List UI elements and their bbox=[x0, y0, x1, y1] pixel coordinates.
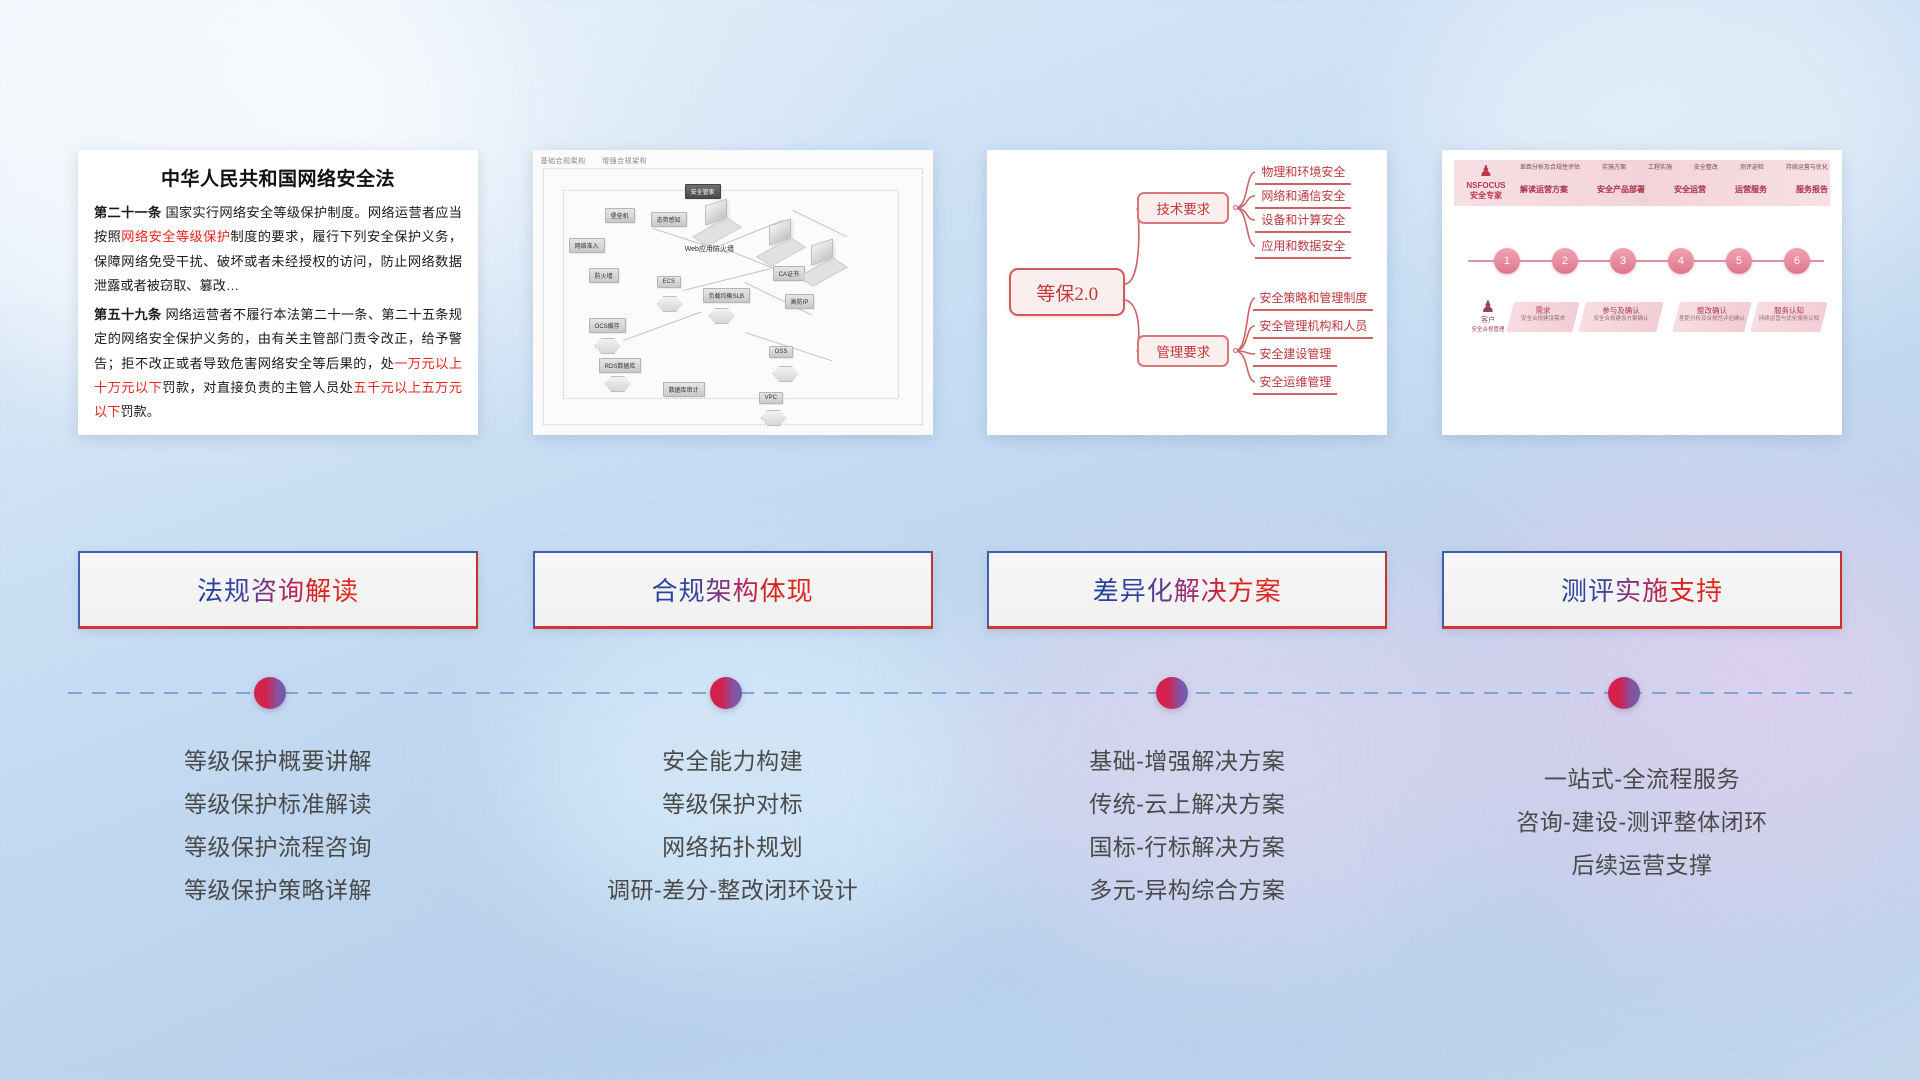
illustration-card-row: 中华人民共和国网络安全法 第二十一条 国家实行网络安全等级保护制度。网络运营者应… bbox=[78, 150, 1842, 440]
roadmap-capability: 服务报告 bbox=[1796, 184, 1828, 195]
roadmap-capability: 安全运营 bbox=[1674, 184, 1706, 195]
timeline-dot-1[interactable] bbox=[254, 677, 286, 709]
mindmap-leaf: 应用和数据安全 bbox=[1255, 236, 1351, 259]
article-21-highlight: 网络安全等级保护 bbox=[121, 229, 230, 244]
roadmap-micro: 安全整改 bbox=[1694, 162, 1718, 171]
architecture-node: 堡垒机 bbox=[605, 208, 635, 223]
phase-button-row: 法规咨询解读 合规架构体现 差异化解决方案 测评实施支持 bbox=[78, 551, 1842, 629]
architecture-node: 防火墙 bbox=[589, 268, 619, 283]
roadmap-capability: 解读运营方案 bbox=[1520, 184, 1568, 195]
detail-list-assessment-support: 一站式-全流程服务 咨询-建设-测评整体闭环 后续运营支撑 bbox=[1442, 740, 1842, 912]
architecture-node: OSS bbox=[769, 346, 794, 358]
roadmap-tag-sub: 持续运营与优化服务认知 bbox=[1756, 316, 1822, 323]
architecture-node: 网络准入 bbox=[569, 238, 605, 253]
phase-button-label: 法规咨询解读 bbox=[197, 571, 359, 608]
mindmap-branch-management: 管理要求 bbox=[1137, 335, 1229, 367]
roadmap-capability: 安全产品部署 bbox=[1597, 184, 1645, 195]
roadmap-tag-sub: 安全合规建设需求 bbox=[1512, 316, 1574, 323]
phase-button-differentiated-solution[interactable]: 差异化解决方案 bbox=[987, 551, 1387, 629]
phase-button-assessment-support[interactable]: 测评实施支持 bbox=[1442, 551, 1842, 629]
roadmap-tag-label: 服务认知 bbox=[1774, 306, 1804, 315]
card-nsfocus-roadmap: ♟ NSFOCUS 安全专家 差距分析及合规性评估 实施方案 工程实施 安全整改… bbox=[1442, 150, 1842, 435]
roadmap-step-dot: 6 bbox=[1784, 248, 1810, 274]
architecture-node: ECS bbox=[657, 276, 681, 288]
architecture-header: 基础合规架构 增强合规架构 bbox=[541, 156, 661, 166]
architecture-node: 高防IP bbox=[785, 294, 815, 309]
mindmap-leaf: 网络和通信安全 bbox=[1255, 186, 1351, 209]
phase-button-label: 合规架构体现 bbox=[652, 571, 814, 608]
expert-person-icon: ♟ bbox=[1458, 164, 1514, 179]
law-article-21: 第二十一条 国家实行网络安全等级保护制度。网络运营者应当按照网络安全等级保护制度… bbox=[94, 201, 462, 299]
roadmap-track-line bbox=[1468, 260, 1824, 262]
mindmap-leaf: 物理和环境安全 bbox=[1255, 162, 1351, 185]
list-item: 等级保护对标 bbox=[533, 783, 933, 826]
card-dengbao-mindmap: 等保2.0 技术要求 物理和环境安全 网络和通信安全 设备和计算安全 应用和数据… bbox=[987, 150, 1387, 435]
roadmap-micro: 实施方案 bbox=[1602, 162, 1626, 171]
mindmap-leaf: 安全策略和管理制度 bbox=[1253, 288, 1373, 311]
detail-list-compliance-architecture: 安全能力构建 等级保护对标 网络拓扑规划 调研-差分-整改闭环设计 bbox=[533, 740, 933, 912]
roadmap-micro: 持续运营与优化 bbox=[1786, 162, 1828, 171]
architecture-node: 态势感知 bbox=[651, 212, 687, 227]
roadmap-tag-label: 参与及确认 bbox=[1602, 306, 1640, 315]
roadmap-step-dot: 2 bbox=[1552, 248, 1578, 274]
roadmap-micro: 差距分析及合规性评估 bbox=[1520, 162, 1580, 171]
list-item: 等级保护策略详解 bbox=[78, 869, 478, 912]
list-item: 基础-增强解决方案 bbox=[987, 740, 1387, 783]
mindmap-branch-technical: 技术要求 bbox=[1137, 192, 1229, 224]
detail-list-row: 等级保护概要讲解 等级保护标准解读 等级保护流程咨询 等级保护策略详解 安全能力… bbox=[78, 740, 1842, 912]
roadmap-persona-label: 客户 bbox=[1481, 317, 1495, 324]
mindmap-leaf: 安全管理机构和人员 bbox=[1253, 316, 1373, 339]
roadmap-tag-sub: 安全合规建设方案确认 bbox=[1584, 316, 1658, 323]
law-card-title: 中华人民共和国网络安全法 bbox=[94, 164, 462, 191]
roadmap-capability-row: 解读运营方案 安全产品部署 安全运营 运营服务 服务报告 bbox=[1520, 184, 1828, 195]
list-item: 咨询-建设-测评整体闭环 bbox=[1442, 801, 1842, 844]
list-item: 国标-行标解决方案 bbox=[987, 826, 1387, 869]
list-item: 传统-云上解决方案 bbox=[987, 783, 1387, 826]
roadmap-step-dot: 3 bbox=[1610, 248, 1636, 274]
architecture-node: 负载均衡SLB bbox=[703, 288, 750, 303]
list-item: 后续运营支撑 bbox=[1442, 844, 1842, 887]
roadmap-header-microtext: 差距分析及合规性评估 实施方案 工程实施 安全整改 测评迎检 持续运营与优化 bbox=[1520, 162, 1828, 171]
law-article-59: 第五十九条 网络运营者不履行本法第二十一条、第二十五条规定的网络安全保护义务的，… bbox=[94, 303, 462, 425]
roadmap-bottom-tag: 参与及确认 安全合规建设方案确认 bbox=[1584, 306, 1658, 324]
architecture-node: Web应用防火墙 bbox=[685, 244, 734, 254]
roadmap-micro: 测评迎检 bbox=[1740, 162, 1764, 171]
phase-button-label: 测评实施支持 bbox=[1561, 571, 1723, 608]
roadmap-capability: 运营服务 bbox=[1735, 184, 1767, 195]
architecture-node: 安全管家 bbox=[685, 184, 721, 199]
roadmap-step-dot: 1 bbox=[1494, 248, 1520, 274]
roadmap-tag-sub: 差距分析及合规性评估确认 bbox=[1678, 316, 1746, 323]
roadmap-step-dot: 5 bbox=[1726, 248, 1752, 274]
card-cybersecurity-law: 中华人民共和国网络安全法 第二十一条 国家实行网络安全等级保护制度。网络运营者应… bbox=[78, 150, 478, 435]
mindmap-leaf: 安全运维管理 bbox=[1253, 372, 1337, 395]
timeline-dashed-line bbox=[68, 692, 1852, 694]
roadmap-brand-sub: 安全专家 bbox=[1470, 191, 1502, 200]
list-item: 等级保护标准解读 bbox=[78, 783, 478, 826]
roadmap-micro: 工程实施 bbox=[1648, 162, 1672, 171]
roadmap-step-dot: 4 bbox=[1668, 248, 1694, 274]
list-item: 等级保护概要讲解 bbox=[78, 740, 478, 783]
card-compliance-architecture: 基础合规架构 增强合规架构 安全管家 态势感知 堡垒机 网络准入 防火墙 Web… bbox=[533, 150, 933, 435]
roadmap-bottom-tag: 服务认知 持续运营与优化服务认知 bbox=[1756, 306, 1822, 324]
roadmap-brand: ♟ NSFOCUS 安全专家 bbox=[1458, 164, 1514, 201]
architecture-node: VPC bbox=[759, 392, 783, 404]
timeline-dot-3[interactable] bbox=[1156, 677, 1188, 709]
architecture-node: OCS缓存 bbox=[589, 318, 626, 333]
customer-person-icon: ♟ bbox=[1458, 300, 1518, 316]
list-item: 网络拓扑规划 bbox=[533, 826, 933, 869]
list-item: 安全能力构建 bbox=[533, 740, 933, 783]
architecture-header-left: 基础合规架构 bbox=[541, 158, 586, 165]
timeline-dot-2[interactable] bbox=[710, 677, 742, 709]
article-59-text-b: 罚款，对直接负责的主管人员处 bbox=[162, 380, 353, 395]
roadmap-persona-sub: 安全合规管理 bbox=[1471, 327, 1504, 333]
list-item: 等级保护流程咨询 bbox=[78, 826, 478, 869]
article-21-label: 第二十一条 bbox=[94, 205, 161, 220]
architecture-node: 数据库审计 bbox=[663, 382, 705, 397]
detail-list-regulation-consulting: 等级保护概要讲解 等级保护标准解读 等级保护流程咨询 等级保护策略详解 bbox=[78, 740, 478, 912]
roadmap-tag-label: 需求 bbox=[1535, 306, 1550, 315]
detail-list-differentiated-solution: 基础-增强解决方案 传统-云上解决方案 国标-行标解决方案 多元-异构综合方案 bbox=[987, 740, 1387, 912]
architecture-node: RDS数据库 bbox=[599, 358, 642, 373]
phase-button-regulation-consulting[interactable]: 法规咨询解读 bbox=[78, 551, 478, 629]
architecture-header-right: 增强合规架构 bbox=[602, 158, 647, 165]
phase-button-compliance-architecture[interactable]: 合规架构体现 bbox=[533, 551, 933, 629]
list-item: 多元-异构综合方案 bbox=[987, 869, 1387, 912]
roadmap-bottom-tag: 需求 安全合规建设需求 bbox=[1512, 306, 1574, 324]
mindmap-leaf: 安全建设管理 bbox=[1253, 344, 1337, 367]
roadmap-brand-name: NSFOCUS bbox=[1466, 181, 1505, 190]
list-item: 一站式-全流程服务 bbox=[1442, 758, 1842, 801]
roadmap-bottom-tag: 整改确认 差距分析及合规性评估确认 bbox=[1678, 306, 1746, 324]
article-59-text-c: 罚款。 bbox=[120, 404, 160, 419]
phase-button-label: 差异化解决方案 bbox=[1093, 571, 1282, 608]
list-item: 调研-差分-整改闭环设计 bbox=[533, 869, 933, 912]
roadmap-tag-label: 整改确认 bbox=[1697, 306, 1727, 315]
mindmap-leaf: 设备和计算安全 bbox=[1255, 210, 1351, 233]
timeline-dot-4[interactable] bbox=[1608, 677, 1640, 709]
article-59-label: 第五十九条 bbox=[94, 307, 161, 322]
